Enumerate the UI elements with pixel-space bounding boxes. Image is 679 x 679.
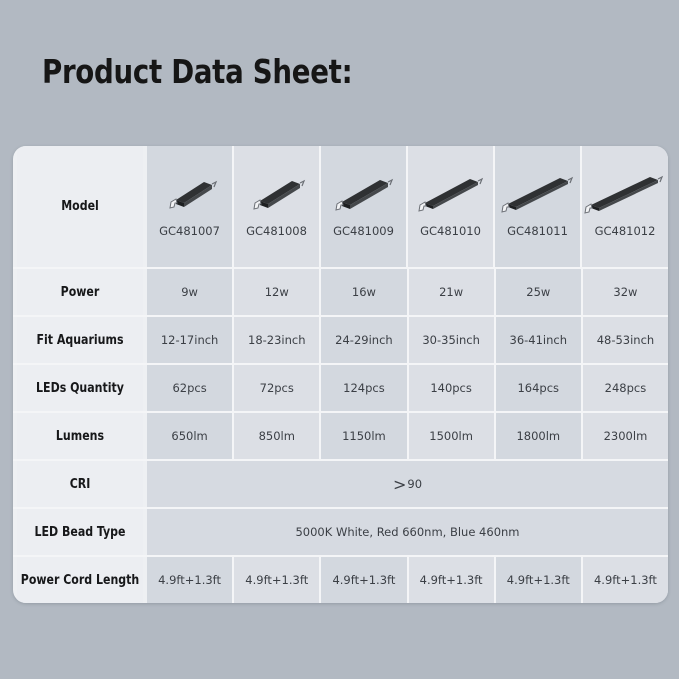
product-image-gc481008 <box>234 164 319 222</box>
data-cell-merged: 5000K White, Red 660nm, Blue 460nm <box>147 509 668 555</box>
aquarium-light-icon <box>330 170 398 216</box>
row-cells: 650lm 850lm 1150lm 1500lm 1800lm 2300lm <box>147 413 668 459</box>
model-cell: GC481012 <box>582 146 668 267</box>
row-cells: 62pcs 72pcs 124pcs 140pcs 164pcs 248pcs <box>147 365 668 411</box>
product-spec-table: Model GC481007 <box>13 146 668 603</box>
data-cell-merged: >90 <box>147 461 668 507</box>
data-cell: 25w <box>496 269 583 315</box>
data-cell: 4.9ft+1.3ft <box>147 557 234 603</box>
row-label: LED Bead Type <box>17 509 143 555</box>
row-cells: 9w 12w 16w 21w 25w 32w <box>147 269 668 315</box>
data-cell: 1150lm <box>321 413 408 459</box>
model-cell: GC481009 <box>321 146 408 267</box>
data-cell: 164pcs <box>496 365 583 411</box>
data-cell: 4.9ft+1.3ft <box>234 557 321 603</box>
table-row: CRI >90 <box>13 461 668 509</box>
page-title: Product Data Sheet: <box>42 52 352 91</box>
greater-than-symbol: > <box>393 477 406 493</box>
model-cell: GC481011 <box>495 146 582 267</box>
aquarium-light-icon <box>582 170 668 216</box>
data-cell: 12-17inch <box>147 317 234 363</box>
row-label: Fit Aquariums <box>17 317 143 363</box>
row-label: LEDs Quantity <box>17 365 143 411</box>
data-cell: 1500lm <box>409 413 496 459</box>
data-cell: 24-29inch <box>321 317 408 363</box>
data-cell: 4.9ft+1.3ft <box>583 557 668 603</box>
model-cell: GC481010 <box>408 146 495 267</box>
product-image-gc481009 <box>321 164 406 222</box>
row-cells: GC481007 GC481008 <box>147 146 668 267</box>
aquarium-light-icon <box>414 170 488 216</box>
product-image-gc481012 <box>582 164 668 222</box>
model-name: GC481009 <box>333 224 394 238</box>
product-image-gc481010 <box>408 164 493 222</box>
table-row: LEDs Quantity 62pcs 72pcs 124pcs 140pcs … <box>13 365 668 413</box>
aquarium-light-icon <box>498 170 578 216</box>
data-cell: 18-23inch <box>234 317 321 363</box>
data-cell: 4.9ft+1.3ft <box>496 557 583 603</box>
data-cell: 2300lm <box>583 413 668 459</box>
data-cell: 32w <box>583 269 668 315</box>
table-row: Model GC481007 <box>13 146 668 269</box>
model-cell: GC481008 <box>234 146 321 267</box>
table-row: Fit Aquariums 12-17inch 18-23inch 24-29i… <box>13 317 668 365</box>
row-label: CRI <box>17 461 143 507</box>
table-row: Lumens 650lm 850lm 1150lm 1500lm 1800lm … <box>13 413 668 461</box>
row-label: Model <box>17 146 143 267</box>
row-label: Power <box>17 269 143 315</box>
table-row: LED Bead Type 5000K White, Red 660nm, Bl… <box>13 509 668 557</box>
data-cell: 16w <box>321 269 408 315</box>
data-cell: 48-53inch <box>583 317 668 363</box>
model-name: GC481008 <box>246 224 307 238</box>
product-image-gc481011 <box>495 164 580 222</box>
data-cell: 140pcs <box>409 365 496 411</box>
model-name: GC481011 <box>507 224 568 238</box>
data-cell: 4.9ft+1.3ft <box>321 557 408 603</box>
row-cells: 4.9ft+1.3ft 4.9ft+1.3ft 4.9ft+1.3ft 4.9f… <box>147 557 668 603</box>
aquarium-light-icon <box>246 170 308 216</box>
data-cell: 248pcs <box>583 365 668 411</box>
model-name: GC481012 <box>595 224 656 238</box>
product-image-gc481007 <box>147 164 232 222</box>
data-cell: 1800lm <box>496 413 583 459</box>
row-label: Lumens <box>17 413 143 459</box>
model-cell: GC481007 <box>147 146 234 267</box>
table-row: Power Cord Length 4.9ft+1.3ft 4.9ft+1.3f… <box>13 557 668 603</box>
row-label: Power Cord Length <box>17 557 143 603</box>
data-cell: 30-35inch <box>409 317 496 363</box>
data-cell: 62pcs <box>147 365 234 411</box>
data-cell: 9w <box>147 269 234 315</box>
aquarium-light-icon <box>162 170 218 216</box>
data-cell: 72pcs <box>234 365 321 411</box>
data-cell: 21w <box>409 269 496 315</box>
data-cell: 36-41inch <box>496 317 583 363</box>
table-row: Power 9w 12w 16w 21w 25w 32w <box>13 269 668 317</box>
data-cell: 124pcs <box>321 365 408 411</box>
model-name: GC481010 <box>420 224 481 238</box>
data-cell: 12w <box>234 269 321 315</box>
data-cell: 650lm <box>147 413 234 459</box>
model-name: GC481007 <box>159 224 220 238</box>
cri-value: 90 <box>407 477 422 491</box>
data-cell: 4.9ft+1.3ft <box>409 557 496 603</box>
row-cells: 12-17inch 18-23inch 24-29inch 30-35inch … <box>147 317 668 363</box>
data-cell: 850lm <box>234 413 321 459</box>
